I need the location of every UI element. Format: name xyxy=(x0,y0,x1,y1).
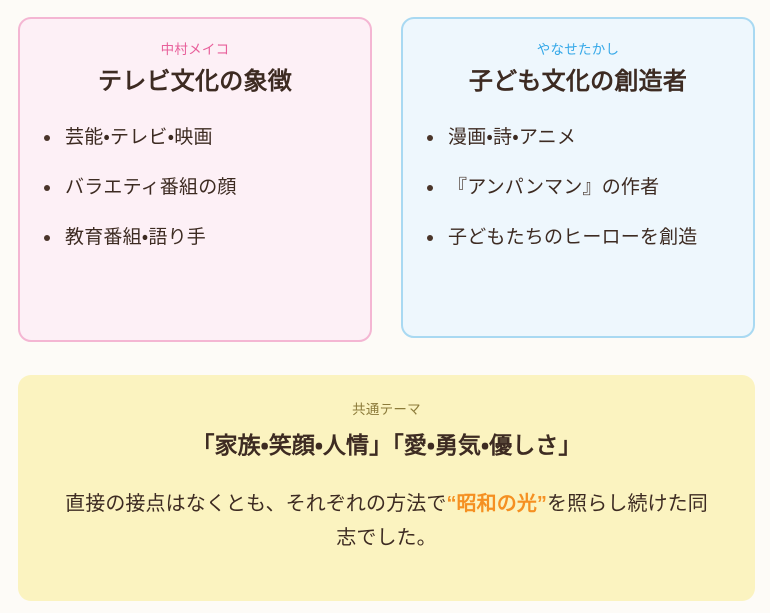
card-eyebrow-nakamura-meiko: 中村メイコ xyxy=(40,41,350,59)
card-list-nakamura-meiko: 芸能・テレビ・映画 バラエティ番組の顔 教育番組・語り手 xyxy=(40,123,350,253)
list-item: 教育番組・語り手 xyxy=(40,223,350,254)
list-item: バラエティ番組の顔 xyxy=(40,173,350,204)
theme-panel-eyebrow: 共通テーマ xyxy=(60,401,713,419)
common-theme-panel: 共通テーマ 「家族・笑顔・人情」「愛・勇気・優しさ」 直接の接点はなくとも、それ… xyxy=(18,375,755,601)
list-item: 『アンパンマン』の作者 xyxy=(423,173,733,204)
card-title-yanase-takashi: 子ども文化の創造者 xyxy=(423,66,733,98)
list-item: 子どもたちのヒーローを創造 xyxy=(423,223,733,254)
theme-body-text-before: 直接の接点はなくとも、それぞれの方法で xyxy=(65,493,446,515)
theme-body-highlight: “昭和の光” xyxy=(446,493,547,515)
card-yanase-takashi: やなせたかし 子ども文化の創造者 漫画・詩・アニメ 『アンパンマン』の作者 子ど… xyxy=(401,17,755,338)
card-list-yanase-takashi: 漫画・詩・アニメ 『アンパンマン』の作者 子どもたちのヒーローを創造 xyxy=(423,123,733,253)
theme-panel-body: 直接の接点はなくとも、それぞれの方法で“昭和の光”を照らし続けた同志でした。 xyxy=(60,487,713,556)
theme-panel-title: 「家族・笑顔・人情」「愛・勇気・優しさ」 xyxy=(60,430,713,461)
list-item: 芸能・テレビ・映画 xyxy=(40,123,350,154)
comparison-card-row: 中村メイコ テレビ文化の象徴 芸能・テレビ・映画 バラエティ番組の顔 教育番組・… xyxy=(18,17,755,342)
card-nakamura-meiko: 中村メイコ テレビ文化の象徴 芸能・テレビ・映画 バラエティ番組の顔 教育番組・… xyxy=(18,17,372,342)
card-title-nakamura-meiko: テレビ文化の象徴 xyxy=(40,66,350,98)
card-eyebrow-yanase-takashi: やなせたかし xyxy=(423,41,733,59)
list-item: 漫画・詩・アニメ xyxy=(423,123,733,154)
